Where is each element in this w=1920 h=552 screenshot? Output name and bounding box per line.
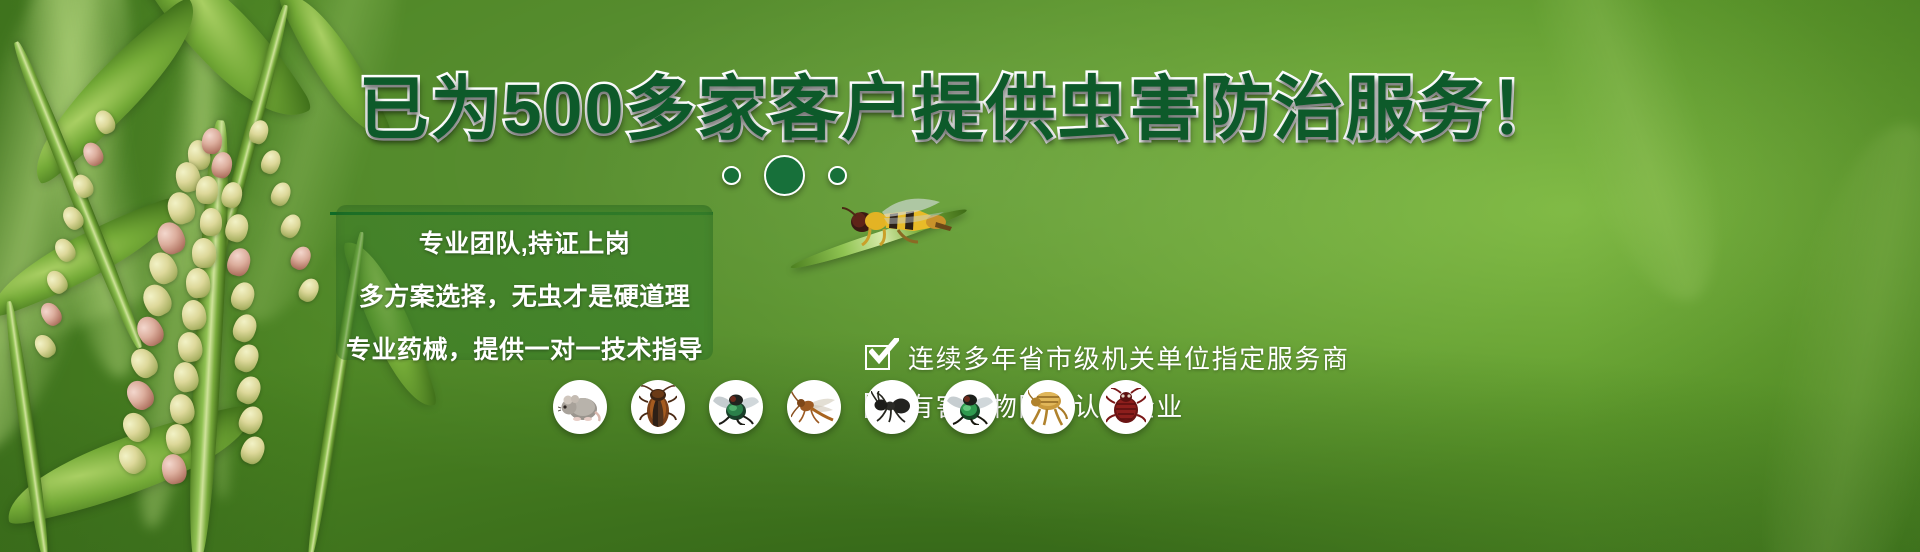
rodent-icon[interactable] (553, 380, 607, 434)
pest-type-icon-strip (553, 380, 1153, 434)
feature-line-1: 专业团队,持证上岗 (336, 205, 713, 260)
hoverfly-icon (840, 198, 955, 246)
page-title: 已为500多家客户提供虫害防治服务！ (0, 72, 1920, 146)
flower-bud (195, 175, 219, 204)
blowfly-icon[interactable] (943, 380, 997, 434)
check-mark-icon (869, 338, 899, 364)
ant-icon[interactable] (865, 380, 919, 434)
decor-dot-large-center (764, 155, 805, 196)
pest-control-hero-banner: 已为500多家客户提供虫害防治服务！ 专业团队,持证上岗 多方案选择，无虫才是硬… (0, 0, 1920, 552)
feature-highlight-box: 专业团队,持证上岗 多方案选择，无虫才是硬道理 专业药械，提供一对一技术指导 (336, 205, 713, 360)
checklist-item-label: 连续多年省市级机关单位指定服务商 (908, 339, 1350, 376)
checklist-item: 连续多年省市级机关单位指定服务商 (865, 333, 1350, 381)
mosquito-icon[interactable] (787, 380, 841, 434)
bedbug-icon[interactable] (1099, 380, 1153, 434)
decor-dot-small-right (828, 166, 847, 185)
checkbox-checked-icon (865, 345, 890, 370)
cockroach-icon[interactable] (631, 380, 685, 434)
fly-icon[interactable] (709, 380, 763, 434)
decor-dot-small-left (722, 166, 741, 185)
feature-line-2: 多方案选择，无虫才是硬道理 (336, 260, 713, 313)
flea-icon[interactable] (1021, 380, 1075, 434)
page-title-text: 已为500多家客户提供虫害防治服务！ (359, 70, 1562, 148)
flower-bud (200, 208, 223, 237)
feature-line-3: 专业药械，提供一对一技术指导 (336, 313, 713, 366)
